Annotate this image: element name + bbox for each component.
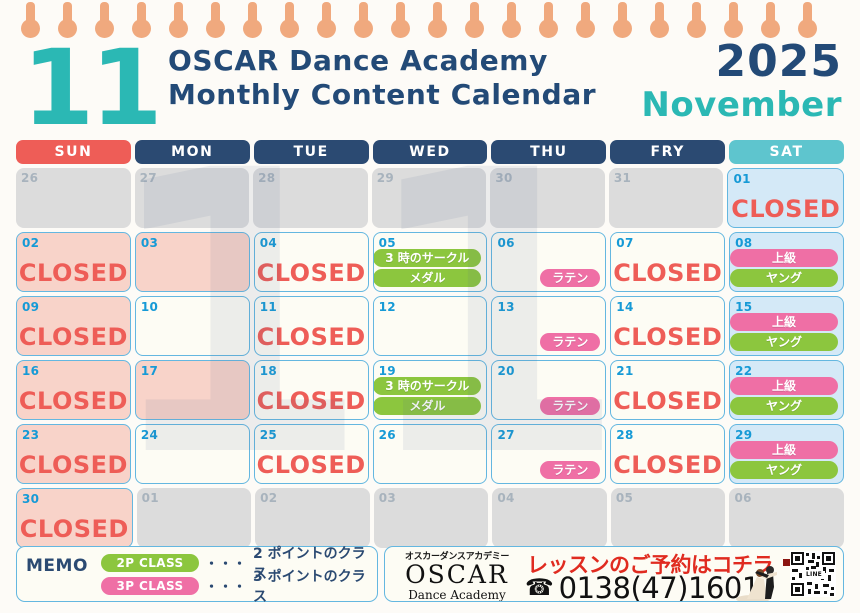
day-cell[interactable]: 11CLOSED [254, 296, 369, 356]
pin-icon [433, 2, 442, 26]
class-tag[interactable]: 上級 [730, 313, 838, 331]
day-cell[interactable]: 05 [611, 488, 726, 548]
day-cell[interactable]: 01CLOSED [727, 168, 844, 228]
weekday-header-sat: SAT [729, 140, 844, 164]
class-tag[interactable]: ヤング [730, 333, 838, 351]
day-cell[interactable]: 02 [255, 488, 370, 548]
day-number: 19 [379, 364, 396, 378]
day-cell[interactable]: 30CLOSED [16, 488, 133, 548]
day-cell[interactable]: 09CLOSED [16, 296, 131, 356]
month-number: 11 [22, 36, 159, 140]
closed-label: CLOSED [255, 323, 368, 351]
closed-label: CLOSED [17, 323, 130, 351]
class-tag[interactable]: ヤング [730, 269, 838, 287]
day-number: 01 [733, 172, 750, 186]
day-cell[interactable]: 10 [135, 296, 250, 356]
pin-icon [285, 2, 294, 26]
weekday-header-row: SUNMONTUEWEDTHUFRYSAT [16, 140, 844, 164]
qr-line-label: LINE [803, 571, 825, 579]
day-cell[interactable]: 01 [137, 488, 252, 548]
tag-list: ラテン [540, 461, 600, 479]
class-tag[interactable]: ヤング [730, 397, 838, 415]
day-number: 16 [22, 364, 39, 378]
memo-label: MEMO [26, 556, 88, 576]
weeks-container: 26272829303101CLOSED02CLOSED0304CLOSED05… [16, 168, 844, 548]
day-number: 07 [616, 236, 633, 250]
day-cell[interactable]: 26 [16, 168, 131, 228]
tag-list: 上級ヤング [730, 441, 838, 479]
day-number: 09 [22, 300, 39, 314]
day-cell[interactable]: 24 [135, 424, 250, 484]
class-tag[interactable]: ラテン [540, 397, 600, 415]
year-label: 2025 [641, 38, 842, 86]
day-cell[interactable]: 04CLOSED [254, 232, 369, 292]
day-cell[interactable]: 20ラテン [491, 360, 606, 420]
pin-icon [507, 2, 516, 26]
contact-box: オスカーダンスアカデミー OSCAR Dance Academy レッスンのご予… [384, 546, 844, 602]
day-cell[interactable]: 28 [253, 168, 368, 228]
day-cell[interactable]: 30 [490, 168, 605, 228]
day-number: 18 [260, 364, 277, 378]
day-number: 20 [497, 364, 514, 378]
day-number: 15 [735, 300, 752, 314]
pin-icon [581, 2, 590, 26]
day-cell[interactable]: 053 時のサークルメダル [373, 232, 488, 292]
pin-icon [618, 2, 627, 26]
memo-dots: ・・・ [205, 576, 247, 595]
title-line-1: OSCAR Dance Academy [168, 44, 596, 78]
tag-list: 3 時のサークルメダル [373, 249, 481, 287]
day-number: 05 [379, 236, 396, 250]
class-tag[interactable]: 上級 [730, 441, 838, 459]
weekday-header-sun: SUN [16, 140, 131, 164]
pin-icon [655, 2, 664, 26]
day-cell[interactable]: 03 [374, 488, 489, 548]
day-cell[interactable]: 17 [135, 360, 250, 420]
tag-list: 上級ヤング [730, 249, 838, 287]
class-tag[interactable]: 上級 [730, 249, 838, 267]
weekday-header-fry: FRY [610, 140, 725, 164]
day-number: 11 [260, 300, 277, 314]
tag-list: 3 時のサークルメダル [373, 377, 481, 415]
day-cell[interactable]: 15上級ヤング [729, 296, 844, 356]
day-number: 17 [141, 364, 158, 378]
day-number: 13 [497, 300, 514, 314]
day-cell[interactable]: 31 [609, 168, 724, 228]
day-number: 12 [379, 300, 396, 314]
closed-label: CLOSED [255, 259, 368, 287]
class-tag[interactable]: 3 時のサークル [373, 249, 481, 267]
closed-label: CLOSED [17, 259, 130, 287]
day-cell[interactable]: 29上級ヤング [729, 424, 844, 484]
week-row: 09CLOSED1011CLOSED1213ラテン14CLOSED15上級ヤング [16, 296, 844, 356]
day-cell[interactable]: 21CLOSED [610, 360, 725, 420]
day-number: 08 [735, 236, 752, 250]
tag-list: ラテン [540, 333, 600, 351]
day-cell[interactable]: 07CLOSED [610, 232, 725, 292]
class-tag[interactable]: 3 時のサークル [373, 377, 481, 395]
day-number: 30 [22, 492, 39, 506]
telephone-icon: ☎ [525, 577, 554, 600]
closed-label: CLOSED [611, 387, 724, 415]
weekday-header-wed: WED [373, 140, 488, 164]
tag-list: 上級ヤング [730, 313, 838, 351]
closed-label: CLOSED [17, 387, 130, 415]
tag-list: ラテン [540, 397, 600, 415]
day-number: 22 [735, 364, 752, 378]
brand-subtitle: Dance Academy [391, 588, 523, 602]
closed-label: CLOSED [611, 259, 724, 287]
day-cell[interactable]: 12 [373, 296, 488, 356]
day-cell[interactable]: 04 [492, 488, 607, 548]
closed-label: CLOSED [728, 195, 843, 223]
day-number: 01 [142, 491, 159, 505]
day-cell[interactable]: 02CLOSED [16, 232, 131, 292]
class-tag[interactable]: ヤング [730, 461, 838, 479]
day-number: 10 [141, 300, 158, 314]
tag-list: 上級ヤング [730, 377, 838, 415]
year-block: 2025 November [641, 38, 842, 124]
day-cell[interactable]: 18CLOSED [254, 360, 369, 420]
day-number: 28 [616, 428, 633, 442]
memo-pill: 3P CLASS [101, 577, 199, 595]
day-number: 27 [497, 428, 514, 442]
day-number: 14 [616, 300, 633, 314]
day-cell[interactable]: 27ラテン [491, 424, 606, 484]
month-name-label: November [641, 86, 842, 124]
day-number: 26 [379, 428, 396, 442]
memo-pill: 2P CLASS [101, 554, 199, 572]
week-row: 16CLOSED1718CLOSED193 時のサークルメダル20ラテン21CL… [16, 360, 844, 420]
tag-list: ラテン [540, 269, 600, 287]
pin-icon [692, 2, 701, 26]
week-row: 02CLOSED0304CLOSED053 時のサークルメダル06ラテン07CL… [16, 232, 844, 292]
day-number: 31 [614, 171, 631, 185]
day-number: 30 [495, 171, 512, 185]
class-tag[interactable]: メダル [373, 269, 481, 287]
memo-dots: ・・・ [205, 553, 247, 572]
brand-name-en: OSCAR [391, 562, 523, 588]
day-cell[interactable]: 28CLOSED [610, 424, 725, 484]
pin-icon [174, 2, 183, 26]
week-row: 30CLOSED010203040506 [16, 488, 844, 548]
week-row: 23CLOSED2425CLOSED2627ラテン28CLOSED29上級ヤング [16, 424, 844, 484]
pin-icon [26, 2, 35, 26]
day-number: 23 [22, 428, 39, 442]
day-number: 24 [141, 428, 158, 442]
calendar-grid: SUNMONTUEWEDTHUFRYSAT 26272829303101CLOS… [16, 140, 844, 552]
memo-description: 3 ポイントのクラス [253, 566, 371, 606]
day-cell[interactable]: 29 [372, 168, 487, 228]
day-number: 06 [497, 236, 514, 250]
day-number: 05 [616, 491, 633, 505]
pin-icon [470, 2, 479, 26]
weekday-header-mon: MON [135, 140, 250, 164]
pin-icon [803, 2, 812, 26]
day-cell[interactable]: 16CLOSED [16, 360, 131, 420]
week-row: 26272829303101CLOSED [16, 168, 844, 228]
class-tag[interactable]: ラテン [540, 461, 600, 479]
day-cell[interactable]: 25CLOSED [254, 424, 369, 484]
closed-label: CLOSED [611, 323, 724, 351]
class-tag[interactable]: ラテン [540, 269, 600, 287]
day-cell[interactable]: 14CLOSED [610, 296, 725, 356]
day-number: 25 [260, 428, 277, 442]
pin-icon [766, 2, 775, 26]
closed-label: CLOSED [17, 451, 130, 479]
pin-icon [322, 2, 331, 26]
dancers-illustration [733, 565, 791, 602]
day-cell[interactable]: 22上級ヤング [729, 360, 844, 420]
closed-label: CLOSED [17, 515, 132, 543]
pin-icon [63, 2, 72, 26]
day-cell[interactable]: 13ラテン [491, 296, 606, 356]
day-number: 02 [22, 236, 39, 250]
day-cell[interactable]: 193 時のサークルメダル [373, 360, 488, 420]
pin-icon [359, 2, 368, 26]
day-cell[interactable]: 03 [135, 232, 250, 292]
brand-logo: オスカーダンスアカデミー OSCAR Dance Academy [391, 549, 523, 602]
day-cell[interactable]: 06 [729, 488, 844, 548]
day-number: 04 [260, 236, 277, 250]
memo-box: MEMO 2P CLASS・・・2 ポイントのクラス3P CLASS・・・3 ポ… [16, 546, 378, 602]
day-number: 02 [260, 491, 277, 505]
day-cell[interactable]: 27 [135, 168, 250, 228]
day-number: 26 [21, 171, 38, 185]
pin-icon [396, 2, 405, 26]
day-number: 27 [140, 171, 157, 185]
day-number: 03 [141, 236, 158, 250]
day-cell[interactable]: 23CLOSED [16, 424, 131, 484]
class-tag[interactable]: ラテン [540, 333, 600, 351]
day-number: 29 [377, 171, 394, 185]
pin-icon [100, 2, 109, 26]
footer: MEMO 2P CLASS・・・2 ポイントのクラス3P CLASS・・・3 ポ… [16, 546, 844, 602]
class-tag[interactable]: メダル [373, 397, 481, 415]
pin-icon [248, 2, 257, 26]
closed-label: CLOSED [611, 451, 724, 479]
weekday-header-thu: THU [491, 140, 606, 164]
weekday-header-tue: TUE [254, 140, 369, 164]
day-number: 29 [735, 428, 752, 442]
pin-icon [137, 2, 146, 26]
day-number: 28 [258, 171, 275, 185]
title-line-2: Monthly Content Calendar [168, 78, 596, 112]
closed-label: CLOSED [255, 451, 368, 479]
pin-icon [729, 2, 738, 26]
day-number: 06 [734, 491, 751, 505]
phone-number: 0138(47)1601 [559, 573, 760, 602]
class-tag[interactable]: 上級 [730, 377, 838, 395]
qr-code[interactable]: LINE [790, 551, 836, 597]
phone-row[interactable]: ☎ 0138(47)1601 [525, 573, 760, 602]
day-cell[interactable]: 26 [373, 424, 488, 484]
day-number: 03 [379, 491, 396, 505]
day-number: 04 [497, 491, 514, 505]
calendar-header: 11 OSCAR Dance Academy Monthly Content C… [0, 38, 860, 140]
memo-row: 3P CLASS・・・3 ポイントのクラス [101, 574, 371, 597]
closed-label: CLOSED [255, 387, 368, 415]
pin-icon [211, 2, 220, 26]
pin-icon [544, 2, 553, 26]
day-cell[interactable]: 08上級ヤング [729, 232, 844, 292]
title-block: OSCAR Dance Academy Monthly Content Cale… [168, 44, 596, 112]
day-cell[interactable]: 06ラテン [491, 232, 606, 292]
day-number: 21 [616, 364, 633, 378]
